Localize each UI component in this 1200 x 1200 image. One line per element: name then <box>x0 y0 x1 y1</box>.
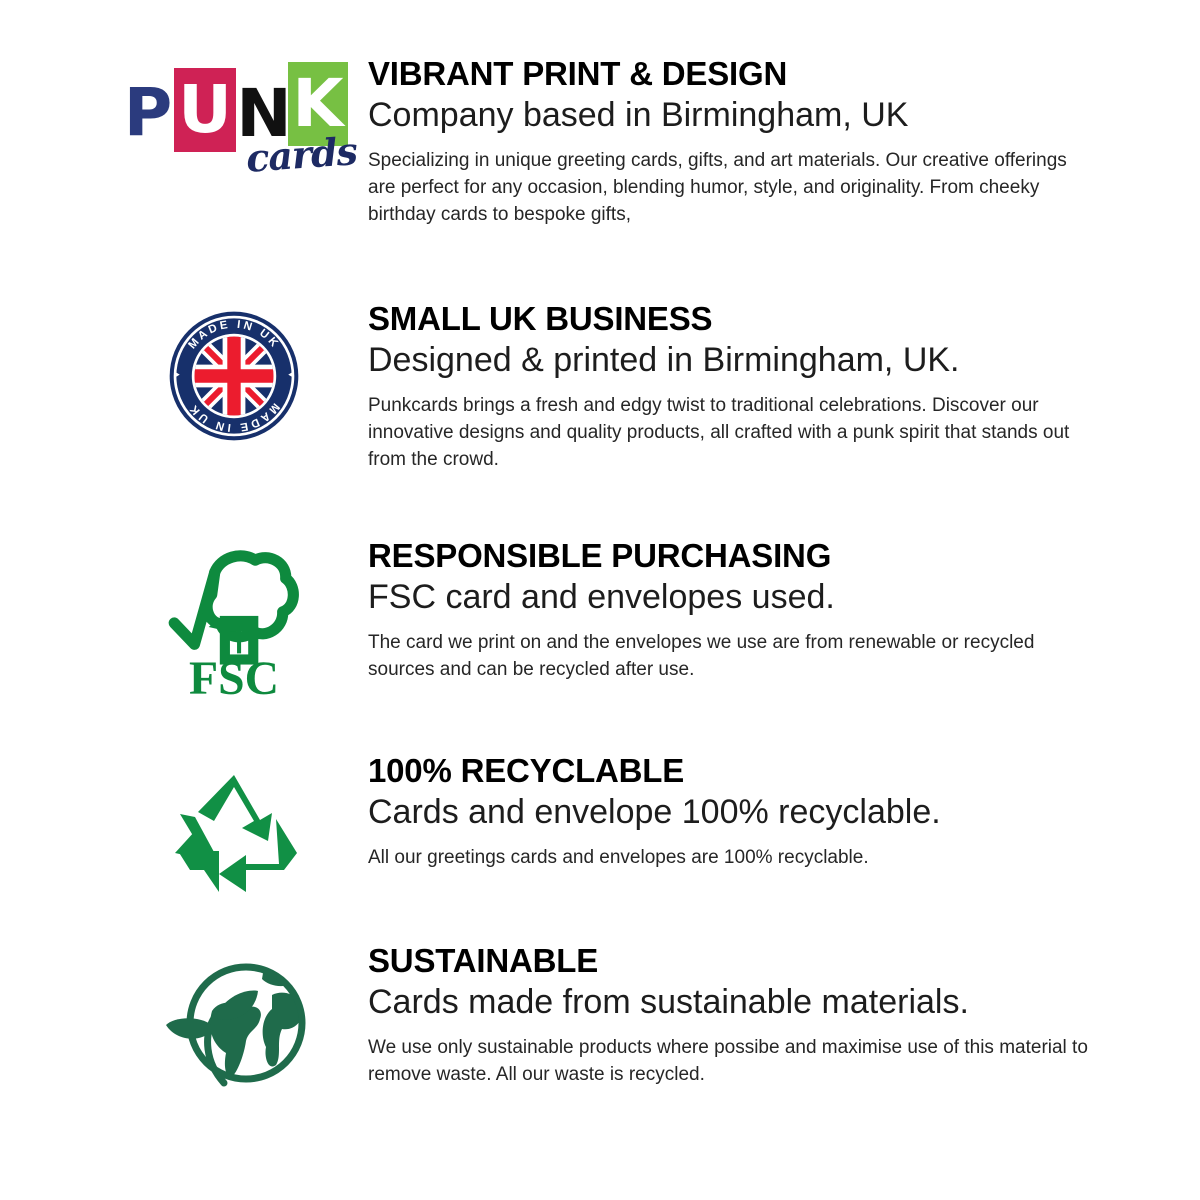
punkcards-logo-icon: P U N K cards <box>118 62 350 170</box>
feature-text-cell: SMALL UK BUSINESS Designed & printed in … <box>368 301 1100 474</box>
feature-row-100-percent-recyclable: 100% RECYCLABLE Cards and envelope 100% … <box>100 753 1100 943</box>
feature-row-vibrant-print-design: P U N K cards VIBRANT PRINT & DESIGN Com… <box>100 56 1100 301</box>
feature-row-sustainable: SUSTAINABLE Cards made from sustainable … <box>100 943 1100 1143</box>
feature-title: SMALL UK BUSINESS <box>368 301 1100 338</box>
feature-body: All our greetings cards and envelopes ar… <box>368 845 1098 872</box>
feature-title: 100% RECYCLABLE <box>368 753 1100 790</box>
feature-body: The card we print on and the envelopes w… <box>368 630 1098 684</box>
feature-icon-cell <box>100 943 368 1087</box>
feature-subtitle: Designed & printed in Birmingham, UK. <box>368 340 1100 381</box>
feature-icon-cell: FSC <box>100 538 368 698</box>
fsc-tree-checkmark-icon: FSC <box>168 548 300 698</box>
feature-text-cell: VIBRANT PRINT & DESIGN Company based in … <box>368 56 1100 229</box>
feature-title: RESPONSIBLE PURCHASING <box>368 538 1100 575</box>
feature-icon-cell: P U N K cards <box>100 56 368 170</box>
feature-list: P U N K cards VIBRANT PRINT & DESIGN Com… <box>0 0 1200 1200</box>
feature-subtitle: Cards made from sustainable materials. <box>368 982 1100 1023</box>
feature-text-cell: RESPONSIBLE PURCHASING FSC card and enve… <box>368 538 1100 684</box>
globe-sprout-icon <box>154 959 314 1087</box>
feature-body: Punkcards brings a fresh and edgy twist … <box>368 393 1098 474</box>
feature-icon-cell <box>100 753 368 896</box>
feature-subtitle: Cards and envelope 100% recyclable. <box>368 792 1100 833</box>
feature-body: We use only sustainable products where p… <box>368 1035 1098 1089</box>
made-in-uk-badge-icon: MADE IN UK MADE IN UK <box>167 309 301 443</box>
feature-title: VIBRANT PRINT & DESIGN <box>368 56 1100 93</box>
feature-row-small-uk-business: MADE IN UK MADE IN UK SMALL UK BUSINESS … <box>100 301 1100 538</box>
feature-body: Specializing in unique greeting cards, g… <box>368 148 1098 229</box>
punk-letter-u: U <box>174 68 236 152</box>
feature-title: SUSTAINABLE <box>368 943 1100 980</box>
feature-text-cell: SUSTAINABLE Cards made from sustainable … <box>368 943 1100 1089</box>
feature-subtitle: Company based in Birmingham, UK <box>368 95 1100 136</box>
feature-subtitle: FSC card and envelopes used. <box>368 577 1100 618</box>
fsc-label: FSC <box>189 653 279 698</box>
feature-text-cell: 100% RECYCLABLE Cards and envelope 100% … <box>368 753 1100 872</box>
feature-row-responsible-purchasing: FSC RESPONSIBLE PURCHASING FSC card and … <box>100 538 1100 753</box>
feature-icon-cell: MADE IN UK MADE IN UK <box>100 301 368 443</box>
leaf-left-icon <box>166 1018 212 1038</box>
recycle-mobius-icon <box>164 771 304 896</box>
punk-letter-p: P <box>120 76 176 150</box>
punkcards-script-word: cards <box>245 128 359 181</box>
